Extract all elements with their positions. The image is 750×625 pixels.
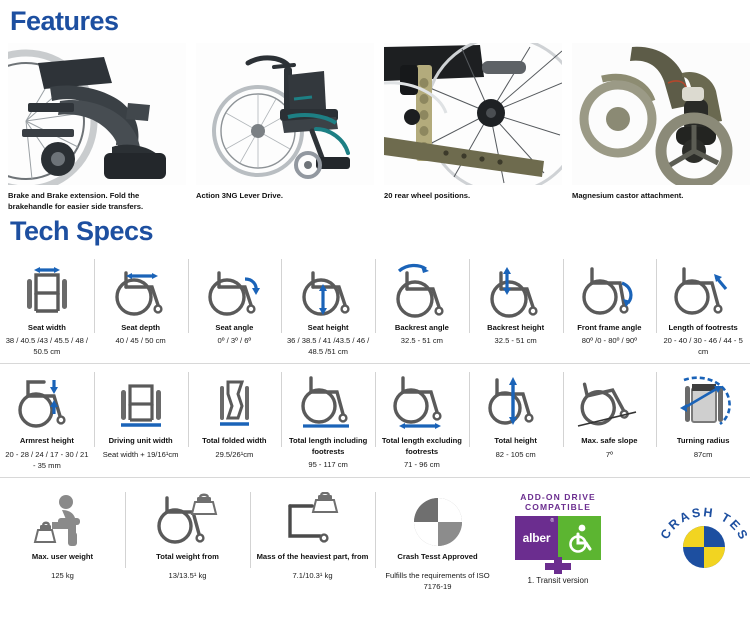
spec-value: 82 - 105 cm [496,449,536,460]
total-height-icon [483,370,549,432]
backrest-angle-icon [389,257,455,319]
spec-value: 7.1/10.3¹ kg [292,570,332,581]
spec-backrest-angle: Backrest angle 32.5 - 51 cm [375,251,469,359]
alber-wordmark-block: ® alber [515,516,558,560]
max-user-weight-icon [28,490,98,548]
feature-item: 20 rear wheel positions. [384,43,562,212]
spec-label: Seat width [28,323,66,333]
spec-value: 71 - 96 cm [404,459,440,470]
spec-seat-height: Seat height 36 / 38.5 / 41 /43.5 / 46 / … [281,251,375,359]
spec-total-height: Total height 82 - 105 cm [469,364,563,472]
spec-max-safe-slope: Max. safe slope 7º [563,364,657,472]
spec-label: Turning radius [677,436,730,446]
spec-value: 32.5 - 51 cm [495,335,537,346]
spec-value: 80º /0 - 80º / 90º [582,335,637,346]
spec-max-user-weight: Max. user weight 125 kg [0,484,125,594]
spec-label: Max. safe slope [581,436,637,446]
spec-value: 7º [606,449,613,460]
spec-heaviest-part: Mass of the heaviest part, from 7.1/10.3… [250,484,375,594]
alber-cross-icon [545,557,571,574]
spec-turning-radius: Turning radius 87cm [656,364,750,472]
spec-value: 38 / 40.5 /43 / 45.5 / 48 / 50.5 cm [3,335,91,357]
tech-specs-title: Tech Specs [0,212,750,251]
registered-mark: ® [550,518,554,524]
spec-value: 20 - 40 / 30 - 46 / 44 - 5 cm [659,335,747,357]
seat-height-icon [295,257,361,319]
backrest-height-icon [483,257,549,319]
feature-caption: Action 3NG Lever Drive. [196,190,374,201]
spec-value: 125 kg [51,570,74,581]
footrest-length-icon [670,257,736,319]
spec-label: Armrest height [20,436,74,446]
spec-label: Driving unit width [109,436,173,446]
spec-value: 13/13.5¹ kg [169,570,207,581]
magnesium-castor-photo [572,43,750,185]
spec-value: 40 / 45 / 50 cm [116,335,166,346]
alber-headline-line1: ADD-ON DRIVE [501,492,616,503]
alber-logo: ADD-ON DRIVE COMPATIBLE ® alber [501,492,616,585]
spec-label: Seat angle [215,323,253,333]
spec-row-3: Max. user weight 125 kg Total weight fro… [0,478,750,594]
seat-width-icon [17,257,77,319]
spec-label: Max. user weight [32,552,93,562]
total-weight-icon [153,490,223,548]
spec-armrest-height: Armrest height 20 - 28 / 24 / 17 - 30 / … [0,364,94,472]
driving-unit-width-icon [111,370,171,432]
seat-depth-icon [108,257,174,319]
spec-value: 0º / 3º / 6º [218,335,252,346]
max-safe-slope-icon [574,370,644,432]
spec-label: Total length excluding footrests [378,436,466,457]
turning-radius-icon [670,370,736,432]
spec-value: 29.5/26¹cm [215,449,253,460]
total-folded-width-icon [208,370,260,432]
spec-label: Total weight from [156,552,219,562]
feature-item: Brake and Brake extension. Fold the brak… [8,43,186,212]
heaviest-part-icon [278,490,348,548]
transit-version-footnote: 1. Transit version [501,576,616,585]
crash-test-quadrant-icon [412,490,464,548]
spec-label: Front frame angle [577,323,641,333]
spec-label: Seat depth [121,323,160,333]
spec-label: Backrest angle [395,323,449,333]
certification-logos: ADD-ON DRIVE COMPATIBLE ® alber [500,484,750,594]
feature-caption: Brake and Brake extension. Fold the brak… [8,190,186,212]
spec-total-length-including: Total length including footrests 95 - 11… [281,364,375,472]
features-row: Brake and Brake extension. Fold the brak… [0,37,750,212]
spec-label: Total length including footrests [284,436,372,457]
total-length-including-icon [295,370,361,432]
spec-crash-test: Crash Tesst Approved Fulfills the requir… [375,484,500,594]
product-spec-sheet: Features [0,0,750,625]
front-frame-angle-icon [576,257,642,319]
spec-label: Crash Tesst Approved [397,552,477,562]
feature-item: Magnesium castor attachment. [572,43,750,212]
spec-value: 32.5 - 51 cm [401,335,443,346]
spec-seat-angle: Seat angle 0º / 3º / 6º [188,251,282,359]
armrest-height-icon [14,370,80,432]
crash-tested-badge: CRASH TESTED [658,492,750,575]
alber-wordmark: alber [523,531,551,545]
spec-total-weight: Total weight from 13/13.5¹ kg [125,484,250,594]
spec-value: 95 - 117 cm [308,459,348,470]
spec-value: 20 - 28 / 24 / 17 - 30 / 21 - 35 mm [3,449,91,471]
seat-angle-icon [201,257,267,319]
spec-backrest-height: Backrest height 32.5 - 51 cm [469,251,563,359]
total-length-excluding-icon [389,370,455,432]
spec-seat-width: Seat width 38 / 40.5 /43 / 45.5 / 48 / 5… [0,251,94,359]
rear-wheel-positions-photo [384,43,562,185]
spec-value: 87cm [694,449,713,460]
alber-headline-line2: COMPATIBLE [501,502,616,513]
spec-row-2: Armrest height 20 - 28 / 24 / 17 - 30 / … [0,364,750,477]
spec-seat-depth: Seat depth 40 / 45 / 50 cm [94,251,188,359]
spec-driving-unit-width: Driving unit width Seat width + 19/16¹cm [94,364,188,472]
wheelchair-accessibility-icon [558,516,601,560]
spec-label: Mass of the heaviest part, from [257,552,369,562]
wheelchair-lever-drive-photo [196,43,374,185]
spec-label: Total folded width [202,436,266,446]
spec-value: Seat width + 19/16¹cm [103,449,179,460]
spec-value: 36 / 38.5 / 41 /43.5 / 46 / 48.5 /51 cm [284,335,372,357]
spec-front-frame-angle: Front frame angle 80º /0 - 80º / 90º [563,251,657,359]
features-title: Features [0,0,750,37]
spec-label: Total height [494,436,536,446]
spec-label: Length of footrests [669,323,738,333]
spec-label: Backrest height [487,323,544,333]
feature-caption: 20 rear wheel positions. [384,190,562,201]
spec-label: Seat height [308,323,349,333]
spec-value: Fulfills the requirements of ISO 7176-19 [378,570,497,592]
feature-item: Action 3NG Lever Drive. [196,43,374,212]
spec-footrest-length: Length of footrests 20 - 40 / 30 - 46 / … [656,251,750,359]
wheelchair-brake-photo [8,43,186,185]
spec-row-1: Seat width 38 / 40.5 /43 / 45.5 / 48 / 5… [0,251,750,364]
spec-total-length-excluding: Total length excluding footrests 71 - 96… [375,364,469,472]
feature-caption: Magnesium castor attachment. [572,190,750,201]
spec-total-folded-width: Total folded width 29.5/26¹cm [188,364,282,472]
